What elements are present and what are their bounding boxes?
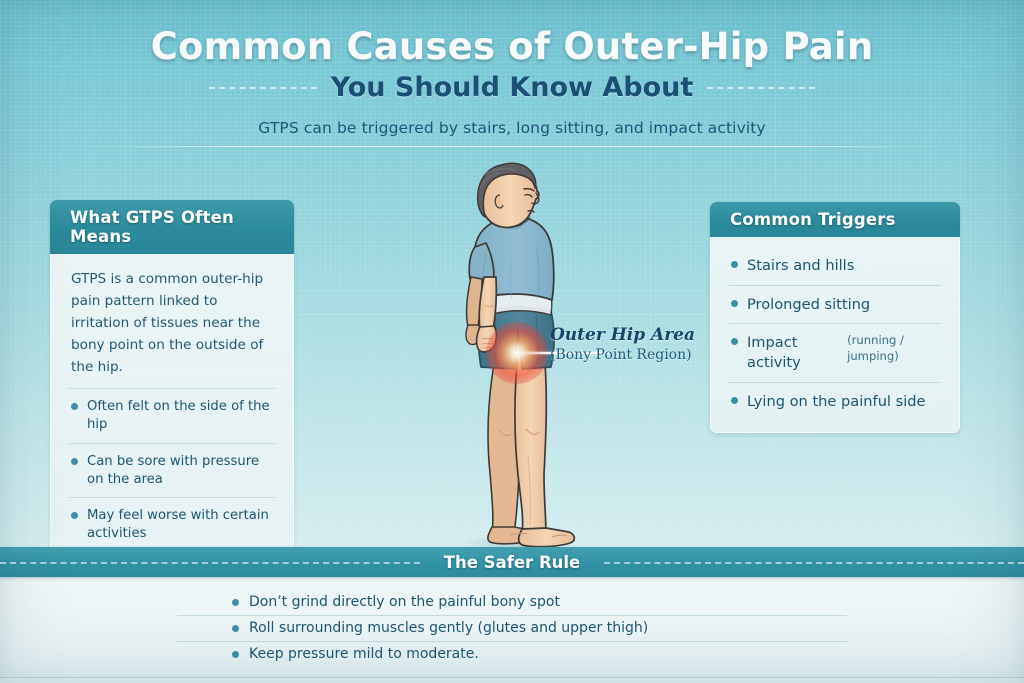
list-item: Stairs and hills (727, 247, 943, 285)
dashed-rule-left (209, 87, 317, 89)
list-item: Often felt on the side of the hip (67, 389, 277, 443)
list-item-label: Prolonged sitting (747, 295, 870, 315)
kicker-wrap: GTPS can be triggered by stairs, long si… (0, 119, 1024, 137)
safer-rule-header: The Safer Rule (0, 547, 1024, 577)
list-item-label: Can be sore with pressure on the area (87, 453, 275, 489)
list-item-label: Often felt on the side of the hip (87, 398, 275, 434)
list-item: Don’t grind directly on the painful bony… (232, 589, 792, 615)
bullet-dot-icon (71, 403, 78, 410)
bullet-dot-icon (232, 651, 239, 658)
list-item: May feel worse with certain activities (67, 498, 277, 552)
page-title: Common Causes of Outer-Hip Pain (0, 26, 1024, 67)
callout-outer-hip-area: Outer Hip Area (Bony Point Region) (550, 325, 770, 363)
list-item-label: Roll surrounding muscles gently (glutes … (249, 620, 648, 636)
bullet-dot-icon (232, 625, 239, 632)
card-what-gtps-often-means: What GTPS Often Means GTPS is a common o… (50, 200, 294, 563)
right-card-heading: Common Triggers (710, 202, 960, 237)
bullet-dot-icon (232, 599, 239, 606)
bullet-dot-icon (71, 512, 78, 519)
list-item-label: Keep pressure mild to moderate. (249, 646, 479, 662)
list-item-label: Lying on the painful side (747, 392, 926, 412)
subtitle-row: You Should Know About (0, 72, 1024, 103)
list-item-label: Don’t grind directly on the painful bony… (249, 594, 560, 610)
page-subtitle: You Should Know About (331, 72, 694, 103)
safer-rule-band: The Safer Rule Don’t grind directly on t… (0, 547, 1024, 683)
card-common-triggers: Common Triggers Stairs and hills Prolong… (710, 202, 960, 433)
list-item-label: May feel worse with certain activities (87, 507, 275, 543)
kicker-underline (82, 146, 942, 147)
list-item-label: Stairs and hills (747, 256, 854, 276)
list-item-note: (running / jumping) (847, 333, 941, 364)
list-item: Keep pressure mild to moderate. (232, 641, 792, 667)
callout-subtitle: (Bony Point Region) (550, 347, 770, 363)
left-card-body: GTPS is a common outer-hip pain pattern … (50, 254, 294, 563)
safer-rule-body: Don’t grind directly on the painful bony… (0, 577, 1024, 678)
kicker-text: GTPS can be triggered by stairs, long si… (0, 119, 1024, 137)
list-item: Roll surrounding muscles gently (glutes … (232, 615, 792, 641)
header-dash-left (0, 562, 420, 564)
dashed-rule-right (707, 87, 815, 89)
left-card-heading: What GTPS Often Means (50, 200, 294, 254)
callout-title: Outer Hip Area (550, 325, 770, 345)
list-item: Prolonged sitting (727, 286, 943, 324)
header: Common Causes of Outer-Hip Pain You Shou… (0, 26, 1024, 137)
bullet-dot-icon (71, 458, 78, 465)
safer-rule-heading: The Safer Rule (428, 553, 597, 572)
bullet-dot-icon (731, 300, 738, 307)
infographic-canvas: Common Causes of Outer-Hip Pain You Shou… (0, 0, 1024, 683)
bullet-dot-icon (731, 397, 738, 404)
list-item: Can be sore with pressure on the area (67, 444, 277, 498)
footer-disclaimer: Informational only. If symptoms persist … (0, 678, 1024, 683)
list-item: Lying on the painful side (727, 383, 943, 421)
bullet-dot-icon (731, 261, 738, 268)
left-card-paragraph: GTPS is a common outer-hip pain pattern … (67, 266, 277, 388)
header-dash-right (604, 562, 1024, 564)
